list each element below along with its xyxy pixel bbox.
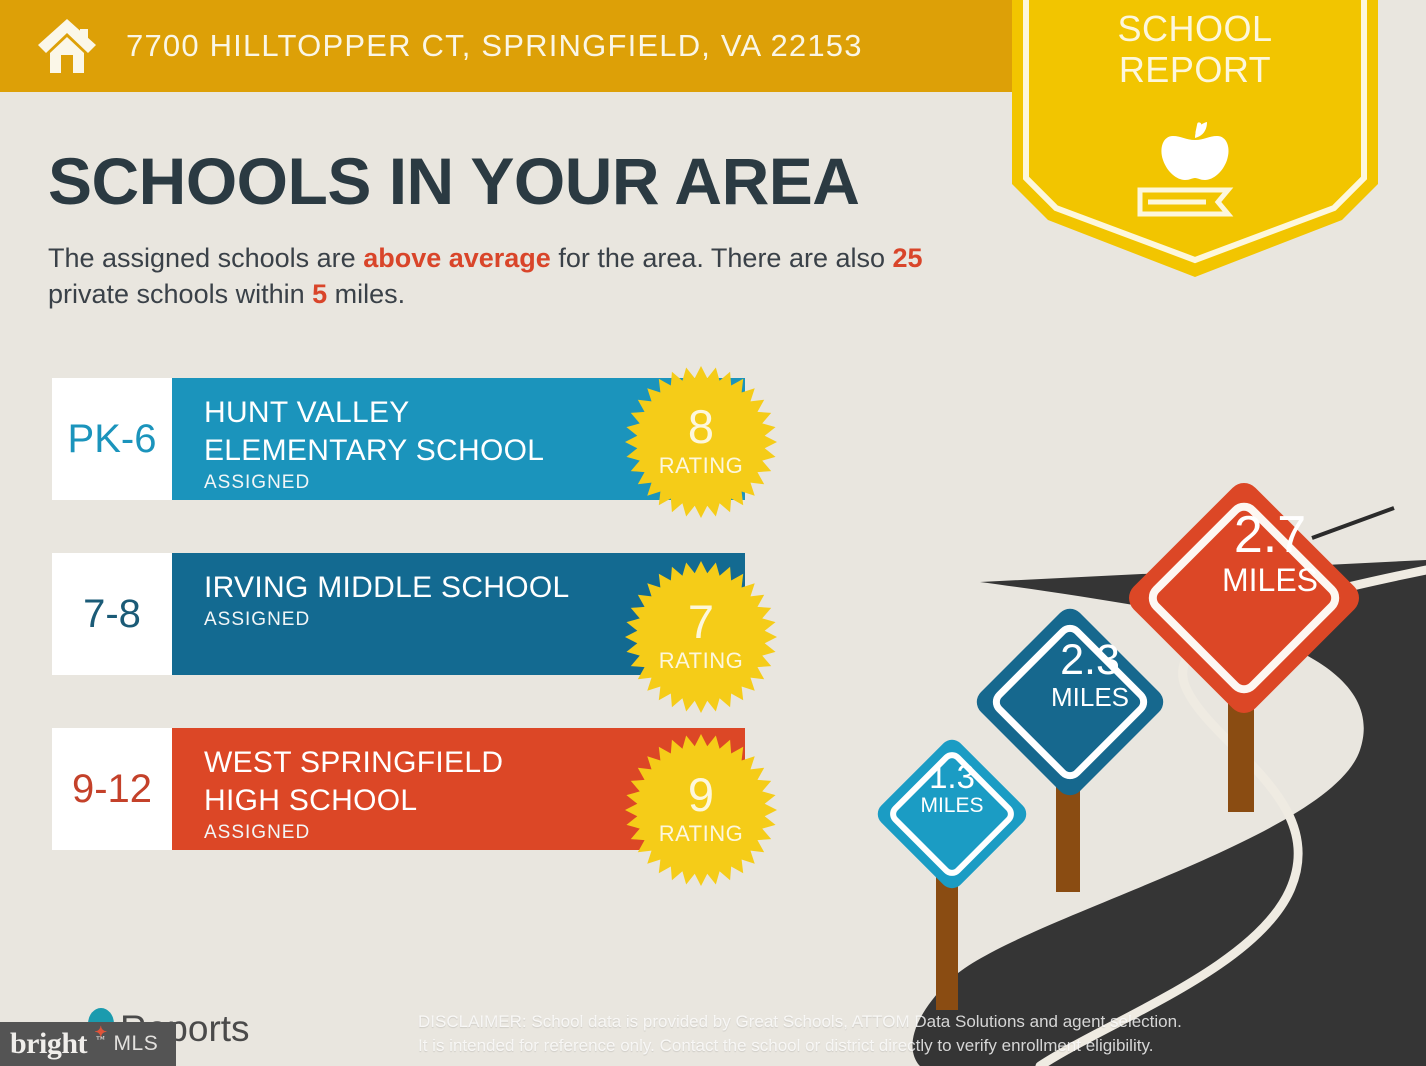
subtitle-highlight-radius: 5 xyxy=(312,279,327,309)
subtitle-part-1: The assigned schools are xyxy=(48,243,363,273)
starburst-icon xyxy=(625,561,777,713)
spark-icon: ✦ xyxy=(95,1027,108,1040)
distance-signs-scene: 1.3 MILES 2.3 MILES 2.7 MILES xyxy=(860,420,1426,1066)
subtitle-highlight-above-average: above average xyxy=(363,243,551,273)
distance-sign-1 xyxy=(873,735,1031,893)
disclaimer-line-2: It is intended for reference only. Conta… xyxy=(418,1034,1378,1058)
school-report-banner: SCHOOL REPORT xyxy=(1012,0,1378,292)
disclaimer-text: DISCLAIMER: School data is provided by G… xyxy=(418,1010,1378,1058)
school-row[interactable]: 9-12 WEST SPRINGFIELD HIGH SCHOOL ASSIGN… xyxy=(52,728,852,850)
distance-sign-2 xyxy=(971,603,1169,801)
subtitle-part-2: for the area. There are also xyxy=(551,243,893,273)
logo-bright-word: bright xyxy=(10,1027,87,1060)
grade-range-label: 9-12 xyxy=(72,767,152,812)
grade-range-label: 7-8 xyxy=(83,592,141,637)
page-title: SCHOOLS IN YOUR AREA xyxy=(48,148,859,214)
grade-range-box: PK-6 xyxy=(52,378,172,500)
disclaimer-line-1: DISCLAIMER: School data is provided by G… xyxy=(418,1010,1378,1034)
school-row[interactable]: PK-6 HUNT VALLEY ELEMENTARY SCHOOL ASSIG… xyxy=(52,378,852,500)
property-address: 7700 HILLTOPPER CT, SPRINGFIELD, VA 2215… xyxy=(126,28,863,64)
infographic-canvas: 7700 HILLTOPPER CT, SPRINGFIELD, VA 2215… xyxy=(0,0,1426,1066)
school-row[interactable]: 7-8 IRVING MIDDLE SCHOOL ASSIGNED 7 RATI… xyxy=(52,553,852,675)
starburst-icon xyxy=(625,734,777,886)
page-subtitle: The assigned schools are above average f… xyxy=(48,240,988,312)
shield-shape xyxy=(1012,0,1378,292)
road-and-signs xyxy=(860,420,1426,1066)
logo-bright-text: bright✦™ xyxy=(10,1027,105,1061)
rating-badge: 9 RATING xyxy=(625,734,777,886)
grade-range-box: 7-8 xyxy=(52,553,172,675)
sign-antenna-line xyxy=(1312,508,1394,538)
assigned-schools-list: PK-6 HUNT VALLEY ELEMENTARY SCHOOL ASSIG… xyxy=(52,378,852,903)
subtitle-part-3: private schools within xyxy=(48,279,312,309)
grade-range-label: PK-6 xyxy=(68,417,157,462)
distance-sign-3 xyxy=(1122,476,1365,719)
subtitle-part-4: miles. xyxy=(327,279,405,309)
bright-mls-logo[interactable]: bright✦™ MLS xyxy=(0,1022,176,1066)
address-header: 7700 HILLTOPPER CT, SPRINGFIELD, VA 2215… xyxy=(0,0,1030,92)
grade-range-box: 9-12 xyxy=(52,728,172,850)
rating-badge: 8 RATING xyxy=(625,366,777,518)
home-icon xyxy=(36,17,98,75)
rating-badge: 7 RATING xyxy=(625,561,777,713)
starburst-icon xyxy=(625,366,777,518)
subtitle-highlight-count: 25 xyxy=(893,243,923,273)
logo-mls-text: MLS xyxy=(114,1032,159,1056)
